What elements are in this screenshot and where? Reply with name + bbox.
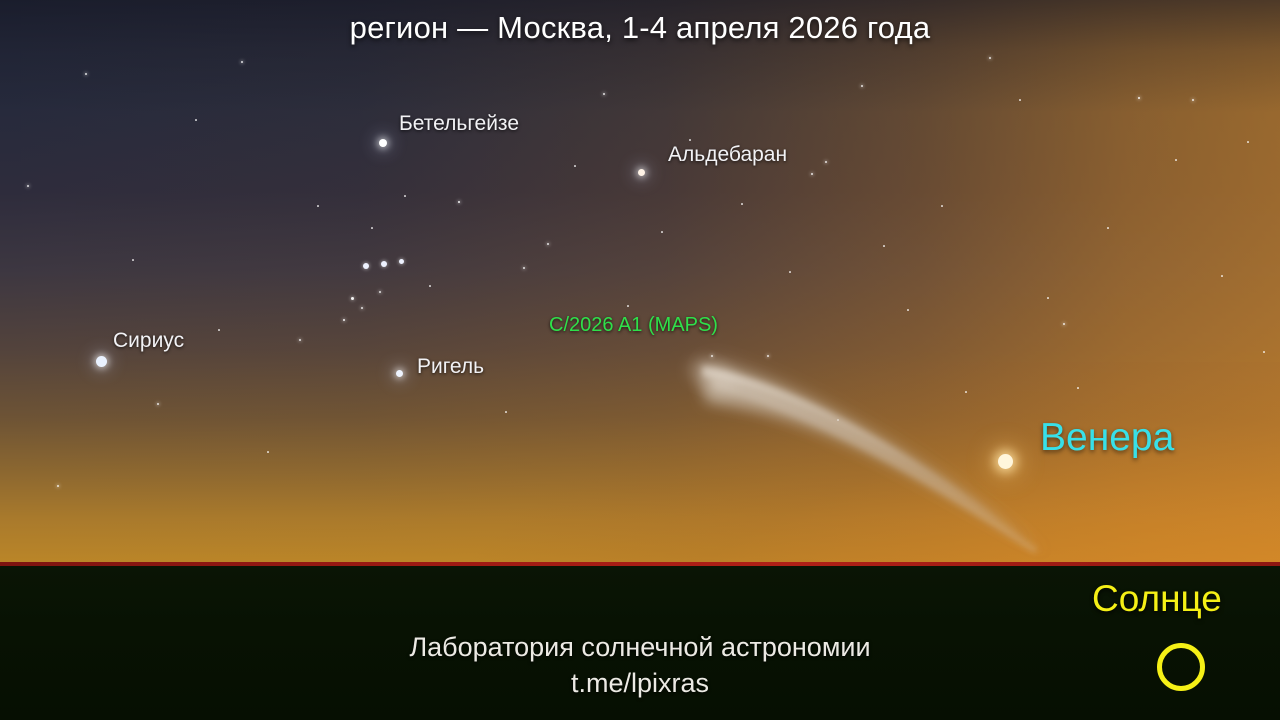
- footer-telegram-link[interactable]: t.me/lpixras: [0, 668, 1280, 698]
- venus-label: Венера: [1040, 418, 1174, 457]
- sky-region: БетельгейзеАльдебаранСириусРигельC/2026 …: [0, 0, 1280, 564]
- comet-label: C/2026 A1 (MAPS): [549, 315, 718, 335]
- footer: Лаборатория солнечной астрономии t.me/lp…: [0, 632, 1280, 698]
- rigel-label: Ригель: [417, 356, 484, 377]
- sun-label: Солнце: [1092, 580, 1222, 617]
- sky-chart-screenshot: БетельгейзеАльдебаранСириусРигельC/2026 …: [0, 0, 1280, 720]
- aldebaran-label: Альдебаран: [668, 144, 787, 165]
- betelgeuse-label: Бетельгейзе: [399, 113, 519, 134]
- sky-top-vignette: [0, 0, 1280, 564]
- page-title: регион — Москва, 1-4 апреля 2026 года: [0, 10, 1280, 46]
- footer-organization: Лаборатория солнечной астрономии: [0, 632, 1280, 662]
- sirius-label: Сириус: [113, 330, 184, 351]
